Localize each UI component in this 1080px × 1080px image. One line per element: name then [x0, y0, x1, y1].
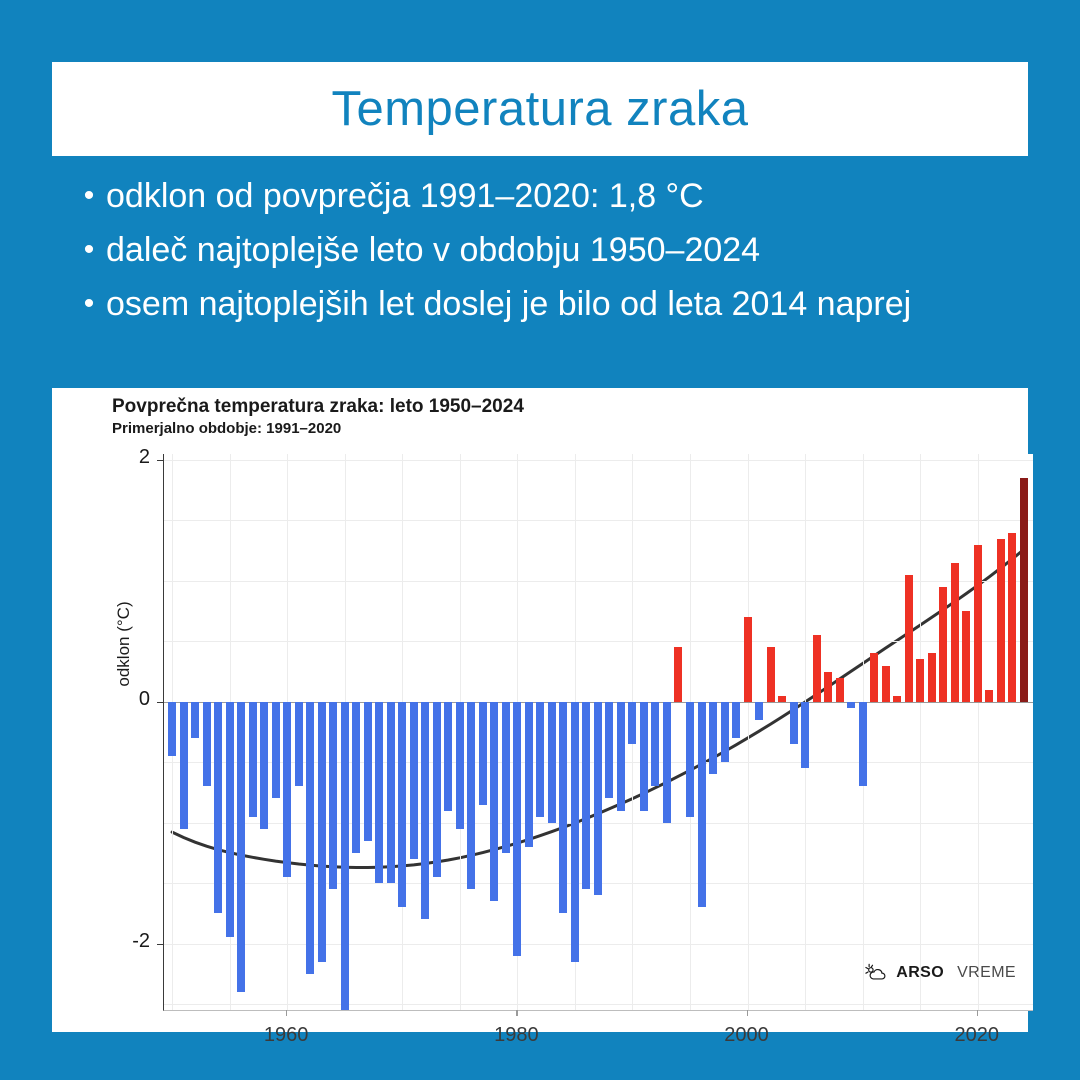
bar	[329, 702, 337, 889]
y-tick-label: 0	[92, 688, 150, 711]
y-tick-label: -2	[92, 930, 150, 953]
bullet-dot-icon: •	[72, 224, 106, 276]
bar	[571, 702, 579, 962]
bar	[237, 702, 245, 992]
bar	[375, 702, 383, 883]
bar	[755, 702, 763, 720]
bar	[962, 611, 970, 702]
bar	[306, 702, 314, 974]
bar	[617, 702, 625, 811]
bar	[352, 702, 360, 853]
bar	[318, 702, 326, 962]
bar	[398, 702, 406, 907]
bar	[674, 647, 682, 701]
bar	[985, 690, 993, 702]
y-tick-label: 2	[92, 446, 150, 469]
list-item: • daleč najtoplejše leto v obdobju 1950–…	[72, 224, 1012, 276]
bar	[836, 678, 844, 702]
chart-panel: Povprečna temperatura zraka: leto 1950–2…	[52, 388, 1028, 1032]
gridline-horizontal	[164, 460, 1033, 461]
bar	[767, 647, 775, 701]
y-tick-mark	[157, 944, 163, 945]
bar	[168, 702, 176, 756]
list-item: • odklon od povprečja 1991–2020: 1,8 °C	[72, 170, 1012, 222]
x-axis-ticks: 1960198020002020	[163, 1010, 1032, 1030]
bar	[226, 702, 234, 938]
slide-root: Temperatura zraka • odklon od povprečja …	[0, 0, 1080, 1080]
chart-subtitle: Primerjalno obdobje: 1991–2020	[112, 420, 341, 437]
bar	[410, 702, 418, 859]
x-tick-label: 1960	[264, 1024, 309, 1047]
bar	[283, 702, 291, 877]
bar	[582, 702, 590, 889]
bar	[790, 702, 798, 744]
bar	[939, 587, 947, 702]
bar	[732, 702, 740, 738]
bar	[559, 702, 567, 914]
chart-title: Povprečna temperatura zraka: leto 1950–2…	[112, 396, 524, 418]
bar	[249, 702, 257, 817]
bar	[778, 696, 786, 702]
gridline-vertical	[920, 454, 921, 1010]
bar	[260, 702, 268, 829]
bar	[859, 702, 867, 787]
bar	[387, 702, 395, 883]
bar	[1008, 533, 1016, 702]
bar	[490, 702, 498, 901]
bar	[651, 702, 659, 787]
sun-behind-cloud-icon	[865, 962, 887, 984]
bar	[686, 702, 694, 817]
x-tick-mark	[747, 1010, 748, 1016]
bar	[479, 702, 487, 805]
gridline-horizontal	[164, 520, 1033, 521]
bar	[536, 702, 544, 817]
logo-brand-text: ARSO	[896, 964, 944, 982]
title-band: Temperatura zraka	[52, 62, 1028, 156]
bar	[870, 653, 878, 701]
bar	[744, 617, 752, 702]
bar	[180, 702, 188, 829]
x-tick-mark	[286, 1010, 287, 1016]
bar	[295, 702, 303, 787]
y-tick-mark	[157, 702, 163, 703]
x-tick-label: 2020	[955, 1024, 1000, 1047]
bar	[813, 635, 821, 701]
bar	[928, 653, 936, 701]
bar	[433, 702, 441, 877]
x-tick-label: 1980	[494, 1024, 539, 1047]
bar	[364, 702, 372, 841]
bar	[640, 702, 648, 811]
bullet-text: osem najtoplejših let doslej je bilo od …	[106, 278, 1012, 330]
bullet-dot-icon: •	[72, 170, 106, 222]
x-tick-mark	[516, 1010, 517, 1016]
bullet-list: • odklon od povprečja 1991–2020: 1,8 °C …	[72, 170, 1012, 332]
bar	[663, 702, 671, 823]
bar	[847, 702, 855, 708]
bar	[502, 702, 510, 853]
bar	[801, 702, 809, 768]
bar	[191, 702, 199, 738]
x-tick-label: 2000	[724, 1024, 769, 1047]
bar	[421, 702, 429, 920]
bar	[905, 575, 913, 702]
bar	[824, 672, 832, 702]
arso-vreme-logo: ARSO VREME	[865, 962, 1016, 984]
bar	[997, 539, 1005, 702]
bar	[951, 563, 959, 702]
gridline-horizontal	[164, 641, 1033, 642]
bullet-text: odklon od povprečja 1991–2020: 1,8 °C	[106, 170, 1012, 222]
gridline-horizontal	[164, 581, 1033, 582]
bar	[605, 702, 613, 799]
logo-product-text: VREME	[957, 964, 1016, 982]
bar	[594, 702, 602, 895]
bar	[1020, 478, 1028, 702]
bar	[698, 702, 706, 907]
gridline-vertical	[748, 454, 749, 1010]
bar	[272, 702, 280, 799]
x-tick-mark	[977, 1010, 978, 1016]
page-title: Temperatura zraka	[331, 81, 748, 137]
bar	[214, 702, 222, 914]
bar	[456, 702, 464, 829]
bar	[444, 702, 452, 811]
list-item: • osem najtoplejših let doslej je bilo o…	[72, 278, 1012, 330]
bar	[882, 666, 890, 702]
y-tick-mark	[157, 460, 163, 461]
gridline-vertical	[978, 454, 979, 1010]
bar	[974, 545, 982, 702]
plot-area	[163, 454, 1033, 1011]
bar	[709, 702, 717, 775]
bar	[916, 659, 924, 701]
bar	[467, 702, 475, 889]
gridline-horizontal	[164, 1004, 1033, 1005]
bar	[513, 702, 521, 956]
bar	[548, 702, 556, 823]
gridline-horizontal	[164, 944, 1033, 945]
bullet-dot-icon: •	[72, 278, 106, 330]
bar	[628, 702, 636, 744]
bar	[893, 696, 901, 702]
bullet-text: daleč najtoplejše leto v obdobju 1950–20…	[106, 224, 1012, 276]
bar	[341, 702, 349, 1010]
bar	[721, 702, 729, 762]
bar	[525, 702, 533, 847]
bar	[203, 702, 211, 787]
